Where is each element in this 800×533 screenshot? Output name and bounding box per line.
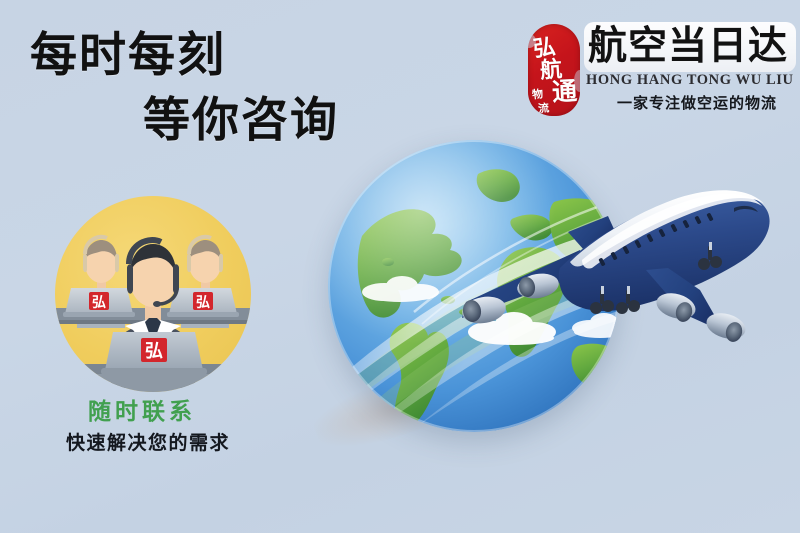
headline-line-1: 每时每刻 xyxy=(30,29,226,81)
headline-line-2: 等你咨询 xyxy=(143,94,339,146)
airplane-illustration xyxy=(432,150,800,370)
promo-poster: 每时每刻 等你咨询 xyxy=(0,0,800,533)
brand-logo-block: 弘 航 通 物 流 航空当日达 HONG HANG TONG WU LIU 一家… xyxy=(520,20,798,130)
caption-secondary: 快速解决您的需求 xyxy=(66,428,296,455)
seal-char-5: 流 xyxy=(537,99,550,116)
brand-name: 航空当日达 xyxy=(588,24,794,70)
seal-char-3: 通 xyxy=(551,71,578,108)
call-center-illustration: 弘 弘 xyxy=(55,196,265,396)
svg-text:弘: 弘 xyxy=(92,295,106,311)
laptop-left: 弘 xyxy=(63,288,135,317)
company-seal-stamp: 弘 航 通 物 流 xyxy=(528,24,580,116)
call-center-graphic: 弘 弘 xyxy=(55,196,265,396)
caption-primary: 随时联系 xyxy=(88,392,268,426)
brand-tagline: 一家专注做空运的物流 xyxy=(592,92,800,113)
brand-pinyin: HONG HANG TONG WU LIU xyxy=(586,72,800,89)
svg-text:弘: 弘 xyxy=(145,341,163,361)
laptop-center: 弘 xyxy=(101,332,207,375)
svg-text:弘: 弘 xyxy=(196,295,210,311)
